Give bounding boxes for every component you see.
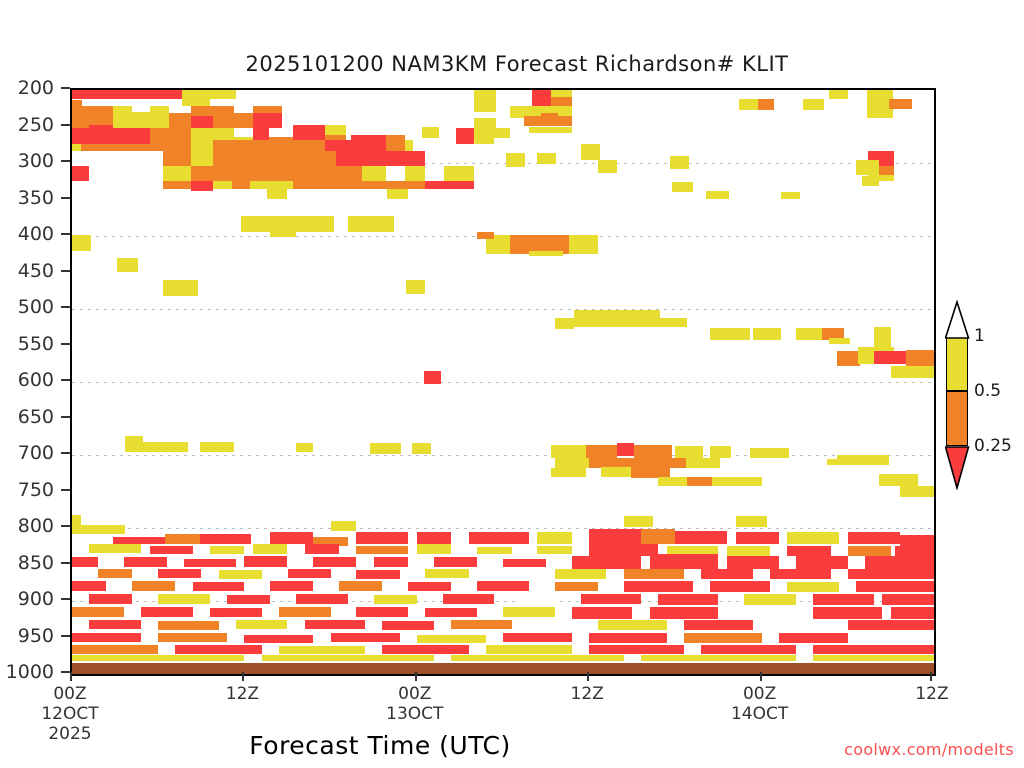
x-tick-label: 12Z <box>226 684 259 704</box>
y-tick-mark <box>61 562 70 564</box>
y-tick-mark <box>61 671 70 673</box>
colorbar-segment <box>946 336 968 391</box>
x-tick-mark <box>760 672 762 681</box>
y-tick-label: 850 <box>18 552 54 574</box>
plot-canvas <box>72 90 934 674</box>
y-tick-label: 650 <box>18 406 54 428</box>
y-tick-label: 950 <box>18 625 54 647</box>
colorbar-tick-label: 0.5 <box>974 381 1001 401</box>
x-tick-line: 12Z <box>226 684 259 704</box>
y-tick-label: 600 <box>18 369 54 391</box>
y-tick-label: 550 <box>18 333 54 355</box>
y-tick-label: 800 <box>18 515 54 537</box>
x-tick-label: 12Z <box>915 684 948 704</box>
x-tick-line: 00Z <box>386 684 443 704</box>
colorbar-body <box>946 336 968 446</box>
y-tick-label: 200 <box>18 77 54 99</box>
terrain-band <box>72 90 934 674</box>
y-tick-mark <box>61 233 70 235</box>
colorbar-tick-label: 0.25 <box>974 436 1012 456</box>
colorbar-tick-label: 1 <box>974 326 985 346</box>
colorbar-segment <box>946 391 968 446</box>
x-tick-label: 00Z14OCT <box>731 684 788 724</box>
y-tick-mark <box>61 270 70 272</box>
y-tick-label: 450 <box>18 260 54 282</box>
x-tick-line: 13OCT <box>386 704 443 724</box>
y-tick-label: 350 <box>18 187 54 209</box>
y-tick-label: 400 <box>18 223 54 245</box>
chart-title-text: 2025101200 NAM3KM Forecast Richardson# K… <box>235 52 788 76</box>
y-tick-label: 900 <box>18 588 54 610</box>
x-tick-mark <box>930 672 932 681</box>
y-tick-label: 700 <box>18 442 54 464</box>
x-tick-mark <box>70 672 72 681</box>
x-tick-line: 12Z <box>915 684 948 704</box>
y-tick-mark <box>61 598 70 600</box>
y-tick-label: 300 <box>18 150 54 172</box>
y-tick-mark <box>61 379 70 381</box>
y-tick-mark <box>61 489 70 491</box>
x-tick-mark <box>242 672 244 681</box>
y-tick-mark <box>61 197 70 199</box>
x-tick-line: 00Z <box>731 684 788 704</box>
y-tick-mark <box>61 124 70 126</box>
page-title: 2025101200 NAM3KM Forecast Richardson# K… <box>0 52 1024 76</box>
x-tick-line: 12Z <box>571 684 604 704</box>
x-tick-label: 12Z <box>571 684 604 704</box>
x-axis-title: Forecast Time (UTC) <box>0 731 760 760</box>
colorbar-arrow-up-icon <box>945 300 975 340</box>
y-tick-mark <box>61 306 70 308</box>
colorbar-legend: 10.50.25 <box>938 300 1024 490</box>
y-tick-label: 750 <box>18 479 54 501</box>
chart-root: 2025101200 NAM3KM Forecast Richardson# K… <box>0 0 1024 768</box>
y-tick-mark <box>61 452 70 454</box>
y-tick-mark <box>61 160 70 162</box>
y-tick-mark <box>61 343 70 345</box>
x-tick-line: 12OCT <box>41 704 98 724</box>
y-tick-mark <box>61 635 70 637</box>
y-tick-label: 500 <box>18 296 54 318</box>
x-tick-label: 00Z13OCT <box>386 684 443 724</box>
y-tick-label: 1000 <box>6 661 54 683</box>
x-tick-mark <box>415 672 417 681</box>
y-axis: 2002503003504004505005506006507007508008… <box>0 88 70 672</box>
x-tick-mark <box>587 672 589 681</box>
y-tick-mark <box>61 525 70 527</box>
colorbar-arrow-down-icon <box>945 446 975 490</box>
watermark-link[interactable]: coolwx.com/modelts <box>844 740 1014 759</box>
plot-area <box>70 88 936 676</box>
y-tick-label: 250 <box>18 114 54 136</box>
y-tick-mark <box>61 416 70 418</box>
y-tick-mark <box>61 87 70 89</box>
x-tick-line: 00Z <box>41 684 98 704</box>
x-tick-line: 14OCT <box>731 704 788 724</box>
